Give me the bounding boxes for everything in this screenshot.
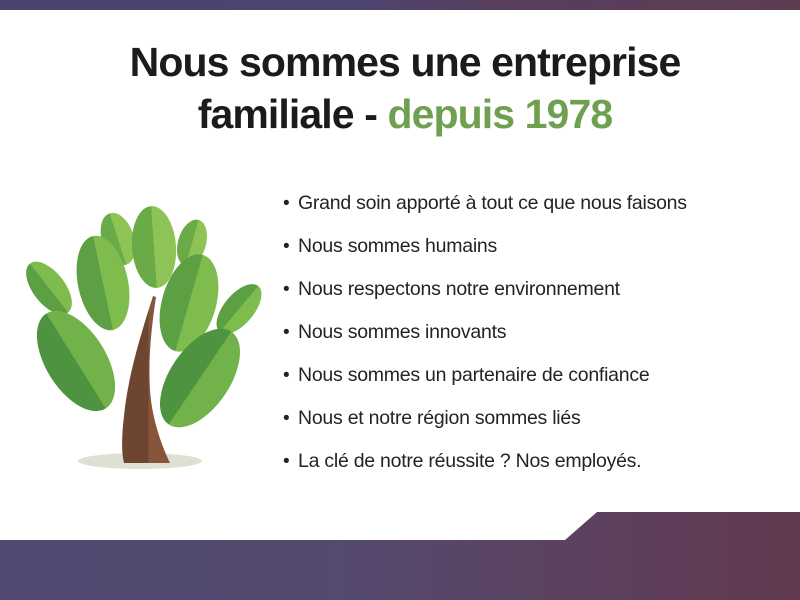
bullet-marker-icon: • [283,237,298,256]
list-item: • Nous et notre région sommes liés [283,407,763,429]
headline-line-2-main: familiale - [198,91,388,137]
bullet-marker-icon: • [283,280,298,299]
top-accent-bar [0,0,800,10]
bullet-marker-icon: • [283,194,298,213]
slide-canvas: Nous sommes une entreprise familiale - d… [0,0,800,600]
list-item-label: Grand soin apporté à tout ce que nous fa… [298,192,687,214]
list-item-label: Nous et notre région sommes liés [298,407,580,429]
footer-band: tabor-automobiles.fr [0,510,800,600]
list-item-label: Nous sommes humains [298,235,497,257]
list-item: • Nous sommes un partenaire de confiance [283,364,763,386]
list-item: • La clé de notre réussite ? Nos employé… [283,450,763,472]
bullet-marker-icon: • [283,452,298,471]
list-item-label: Nous sommes innovants [298,321,506,343]
tree-leaf-far-left [17,254,80,323]
list-item-label: Nous sommes un partenaire de confiance [298,364,649,386]
page-title: Nous sommes une entreprise familiale - d… [60,36,750,141]
list-item: • Nous respectons notre environnement [283,278,763,300]
tree-illustration [12,178,270,490]
list-item: • Grand soin apporté à tout ce que nous … [283,192,763,214]
bullet-marker-icon: • [283,366,298,385]
list-item: • Nous sommes humains [283,235,763,257]
list-item-label: La clé de notre réussite ? Nos employés. [298,450,641,472]
list-item: • Nous sommes innovants [283,321,763,343]
value-bullet-list: • Grand soin apporté à tout ce que nous … [283,192,763,472]
headline-line-1: Nous sommes une entreprise [130,39,681,85]
bullet-marker-icon: • [283,323,298,342]
headline-line-2-accent: depuis 1978 [387,91,612,137]
footer-band-shape [0,510,800,600]
bullet-marker-icon: • [283,409,298,428]
list-item-label: Nous respectons notre environnement [298,278,620,300]
